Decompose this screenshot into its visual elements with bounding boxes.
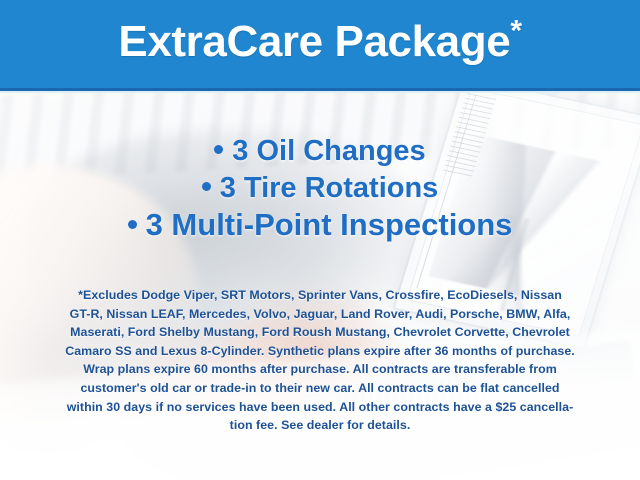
disclaimer-line: Maserati, Ford Shelby Mustang, Ford Rous… (18, 323, 622, 342)
disclaimer-line: *Excludes Dodge Viper, SRT Motors, Sprin… (18, 286, 622, 305)
page-title-asterisk: * (510, 14, 521, 47)
bullet-dot-icon (128, 220, 137, 229)
disclaimer-line: Camaro SS and Lexus 8-Cylinder. Syntheti… (18, 342, 622, 361)
disclaimer-line: GT-R, Nissan LEAF, Mercedes, Volvo, Jagu… (18, 305, 622, 324)
benefit-item-tire-rotations: 3 Tire Rotations (0, 173, 640, 204)
disclaimer-line: tion fee. See dealer for details. (18, 416, 622, 435)
benefit-label: 3 Oil Changes (232, 135, 425, 167)
page-title-text: ExtraCare Package (118, 17, 510, 66)
benefit-label: 3 Multi-Point Inspections (146, 207, 513, 242)
benefit-label: 3 Tire Rotations (220, 172, 439, 204)
disclaimer-text: *Excludes Dodge Viper, SRT Motors, Sprin… (18, 286, 622, 435)
page-title: ExtraCare Package* (118, 20, 521, 64)
benefits-list: 3 Oil Changes 3 Tire Rotations 3 Multi-P… (0, 136, 640, 242)
disclaimer-line: customer's old car or trade-in to their … (18, 379, 622, 398)
header-band: ExtraCare Package* (0, 0, 640, 88)
bullet-dot-icon (214, 145, 223, 154)
bullet-dot-icon (202, 182, 211, 191)
extracare-package-ad: ExtraCare Package* 3 Oil Changes 3 Tire … (0, 0, 640, 480)
disclaimer-line: within 30 days if no services have been … (18, 398, 622, 417)
header-rule-highlight (0, 91, 640, 93)
benefit-item-multi-point-inspections: 3 Multi-Point Inspections (0, 209, 640, 242)
disclaimer-line: Wrap plans expire 60 months after purcha… (18, 360, 622, 379)
benefit-item-oil-changes: 3 Oil Changes (0, 136, 640, 167)
